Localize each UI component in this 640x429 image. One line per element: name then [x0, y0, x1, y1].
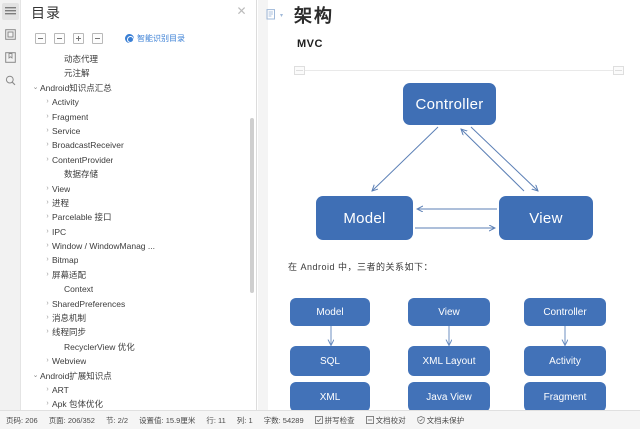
chevron-down-icon[interactable]: ▾	[280, 12, 283, 19]
outline-item[interactable]: ›进程	[21, 196, 256, 210]
expand-all-button[interactable]	[92, 33, 103, 44]
outline-tree[interactable]: 动态代理元注解⌄Android知识点汇总›Activity›Fragment›S…	[21, 50, 256, 410]
outline-item[interactable]: ›IPC	[21, 225, 256, 239]
status-item-label: 页面: 206/352	[49, 415, 95, 426]
heading-marker-icon[interactable]	[266, 8, 278, 20]
relation-column-head: Controller	[524, 298, 606, 326]
status-item-label: 节: 2/2	[106, 415, 128, 426]
status-item[interactable]: 文档未保护	[417, 415, 465, 426]
document-canvas: ▾ 架构 MVC	[258, 0, 640, 410]
relation-column-child: XML Layout	[408, 346, 490, 376]
outline-panel: 目录 ✕ 智能识别目录 动态代理元注解⌄Android知识点汇总›Activit…	[21, 0, 257, 410]
ruler-line	[294, 70, 624, 71]
status-item[interactable]: 节: 2/2	[106, 415, 128, 426]
outline-item-label: 线程同步	[52, 325, 86, 339]
chevron-right-icon[interactable]: ›	[43, 297, 52, 311]
outline-item[interactable]: ›Parcelable 接口	[21, 210, 256, 224]
left-icon-rail	[0, 0, 21, 410]
chevron-right-icon[interactable]: ›	[43, 153, 52, 167]
outline-item-label: RecyclerView 优化	[64, 340, 135, 354]
chevron-right-icon[interactable]: ›	[43, 138, 52, 152]
outline-item[interactable]: Context	[21, 282, 256, 296]
chevron-down-icon[interactable]: ⌄	[31, 81, 40, 95]
status-item[interactable]: 拼写检查	[315, 415, 355, 426]
chevron-right-icon[interactable]: ›	[43, 239, 52, 253]
node-model: Model	[316, 196, 413, 240]
outline-item[interactable]: ›SharedPreferences	[21, 297, 256, 311]
horizontal-ruler[interactable]	[272, 66, 640, 74]
status-item-label: 页码: 206	[6, 415, 38, 426]
outline-item-label: BroadcastReceiver	[52, 138, 124, 152]
mvc-diagram: Controller Model View	[272, 78, 632, 253]
status-item[interactable]: 文档校对	[366, 415, 406, 426]
diagram-caption: 在 Android 中，三者的关系如下：	[288, 260, 433, 273]
status-item[interactable]: 页码: 206	[6, 415, 38, 426]
relation-column-head: View	[408, 298, 490, 326]
relation-column-child: Fragment	[524, 382, 606, 410]
status-bar: 页码: 206页面: 206/352节: 2/2设置值: 15.9厘米行: 11…	[0, 410, 640, 429]
outline-item-label: View	[52, 182, 70, 196]
chevron-right-icon[interactable]: ›	[43, 210, 52, 224]
close-icon[interactable]: ✕	[235, 5, 248, 18]
outline-item-label: Apk 包体优化	[52, 397, 103, 410]
chevron-right-icon[interactable]: ›	[43, 182, 52, 196]
outline-item-label: 动态代理	[64, 52, 98, 66]
relation-diagram: ModelSQLXMLViewXML LayoutJava ViewContro…	[272, 284, 632, 410]
collapse-level-button[interactable]	[54, 33, 65, 44]
chevron-right-icon[interactable]: ›	[43, 325, 52, 339]
outline-item-label: Window / WindowManag ...	[52, 239, 155, 253]
chevron-right-icon[interactable]: ›	[43, 110, 52, 124]
chevron-down-icon[interactable]: ⌄	[31, 369, 40, 383]
outline-item-label: 元注解	[64, 66, 90, 80]
chevron-right-icon[interactable]: ›	[43, 268, 52, 282]
outline-item[interactable]: ›线程同步	[21, 325, 256, 339]
outline-item-label: Android知识点汇总	[40, 81, 112, 95]
right-indent-marker[interactable]	[613, 66, 624, 75]
outline-item-label: Parcelable 接口	[52, 210, 112, 224]
outline-item[interactable]: ›View	[21, 182, 256, 196]
outline-item[interactable]: ›Activity	[21, 95, 256, 109]
word-processor-window: 目录 ✕ 智能识别目录 动态代理元注解⌄Android知识点汇总›Activit…	[0, 0, 640, 429]
outline-item-label: 屏幕适配	[52, 268, 86, 282]
status-item[interactable]: 页面: 206/352	[49, 415, 95, 426]
outline-item-label: Webview	[52, 354, 86, 368]
spellcheck-icon	[315, 416, 323, 424]
smart-toc-button[interactable]: 智能识别目录	[125, 33, 185, 44]
chevron-right-icon[interactable]: ›	[43, 354, 52, 368]
status-item[interactable]: 设置值: 15.9厘米	[139, 415, 195, 426]
relation-column-head: Model	[290, 298, 370, 326]
outline-item[interactable]: ›Apk 包体优化	[21, 397, 256, 410]
chevron-right-icon[interactable]: ›	[43, 383, 52, 397]
page-title: 架构	[294, 2, 334, 28]
outline-item[interactable]: 元注解	[21, 66, 256, 80]
status-item[interactable]: 字数: 54289	[264, 415, 304, 426]
outline-item-label: Context	[64, 282, 93, 296]
relation-column-child: Java View	[408, 382, 490, 410]
status-item-label: 行: 11	[206, 415, 225, 426]
outline-toolbar: 智能识别目录	[21, 30, 256, 46]
outline-item[interactable]: 动态代理	[21, 52, 256, 66]
search-icon[interactable]	[2, 72, 19, 89]
chevron-right-icon[interactable]: ›	[43, 196, 52, 210]
left-indent-marker[interactable]	[294, 66, 305, 75]
chevron-right-icon[interactable]: ›	[43, 397, 52, 410]
status-item-label: 拼写检查	[325, 415, 355, 426]
section-heading: MVC	[297, 38, 323, 50]
expand-level-button[interactable]	[73, 33, 84, 44]
proofread-icon	[366, 416, 374, 424]
outline-item[interactable]: ›Service	[21, 124, 256, 138]
status-item-label: 设置值: 15.9厘米	[139, 415, 195, 426]
status-item-label: 列: 1	[237, 415, 253, 426]
outline-item-label: ART	[52, 383, 69, 397]
status-item-label: 字数: 54289	[264, 415, 304, 426]
outline-item[interactable]: ›消息机制	[21, 311, 256, 325]
shield-icon	[417, 416, 425, 424]
outline-item[interactable]: ›Bitmap	[21, 253, 256, 267]
outline-item[interactable]: ›Webview	[21, 354, 256, 368]
outline-item-label: Bitmap	[52, 253, 78, 267]
outline-item-label: Android扩展知识点	[40, 369, 112, 383]
status-item-label: 文档未保护	[427, 415, 465, 426]
node-view: View	[499, 196, 593, 240]
outline-item-label: ContentProvider	[52, 153, 113, 167]
outline-item-label: 进程	[52, 196, 69, 210]
outline-item[interactable]: ›BroadcastReceiver	[21, 138, 256, 152]
relation-column-child: XML	[290, 382, 370, 410]
relation-column-child: Activity	[524, 346, 606, 376]
smart-toc-badge-icon	[125, 34, 134, 43]
chevron-right-icon[interactable]: ›	[43, 124, 52, 138]
status-item[interactable]: 列: 1	[237, 415, 253, 426]
smart-toc-label: 智能识别目录	[137, 33, 185, 44]
chevron-right-icon[interactable]: ›	[43, 311, 52, 325]
outline-item[interactable]: ⌄Android扩展知识点	[21, 369, 256, 383]
outline-item-label: SharedPreferences	[52, 297, 125, 311]
collapse-all-button[interactable]	[35, 33, 46, 44]
outline-scrollbar[interactable]	[250, 118, 254, 293]
outline-title: 目录	[31, 4, 248, 22]
outline-item-label: 消息机制	[52, 311, 86, 325]
document-gutter	[258, 0, 268, 410]
outline-item[interactable]: RecyclerView 优化	[21, 340, 256, 354]
outline-item-label: Fragment	[52, 110, 88, 124]
outline-item[interactable]: ›屏幕适配	[21, 268, 256, 282]
status-item[interactable]: 行: 11	[206, 415, 225, 426]
outline-item-label: Activity	[52, 95, 79, 109]
bookmark-icon[interactable]	[2, 49, 19, 66]
node-controller: Controller	[403, 83, 496, 125]
page-thumbnail-icon[interactable]	[2, 26, 19, 43]
outline-item[interactable]: ›Window / WindowManag ...	[21, 239, 256, 253]
outline-item[interactable]: ›ART	[21, 383, 256, 397]
outline-item[interactable]: ›ContentProvider	[21, 153, 256, 167]
chevron-right-icon[interactable]: ›	[43, 225, 52, 239]
outline-item[interactable]: 数据存储	[21, 167, 256, 181]
outline-item[interactable]: ›Fragment	[21, 110, 256, 124]
relation-column-child: SQL	[290, 346, 370, 376]
chevron-right-icon[interactable]: ›	[43, 253, 52, 267]
status-item-label: 文档校对	[376, 415, 406, 426]
outline-item[interactable]: ⌄Android知识点汇总	[21, 81, 256, 95]
chevron-right-icon[interactable]: ›	[43, 95, 52, 109]
menu-icon[interactable]	[2, 3, 19, 20]
outline-item-label: IPC	[52, 225, 66, 239]
outline-item-label: 数据存储	[64, 167, 98, 181]
outline-item-label: Service	[52, 124, 80, 138]
outline-header: 目录 ✕	[21, 0, 256, 30]
